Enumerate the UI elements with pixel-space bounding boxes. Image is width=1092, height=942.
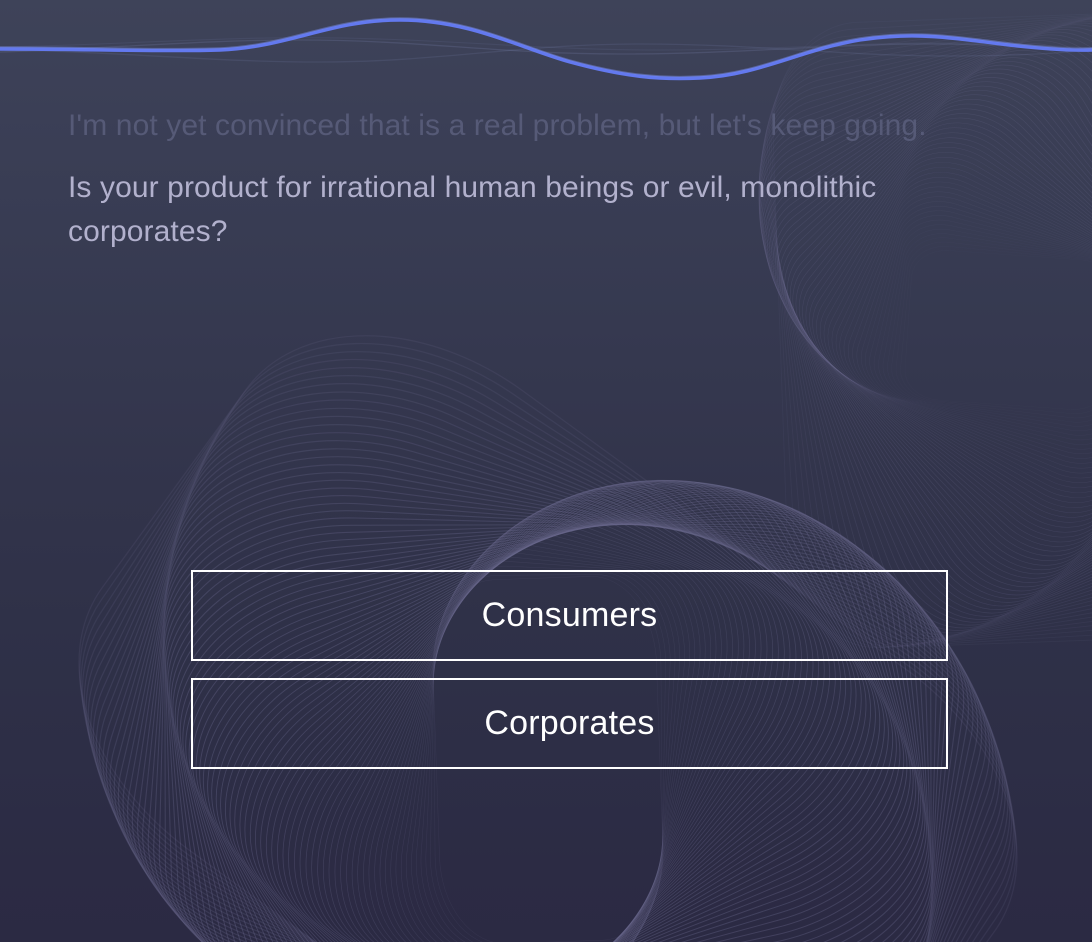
current-question: Is your product for irrational human bei… bbox=[68, 166, 908, 254]
chat-transcript: I'm not yet convinced that is a real pro… bbox=[68, 104, 1038, 254]
answer-options: Consumers Corporates bbox=[191, 570, 948, 769]
answer-button-corporates[interactable]: Corporates bbox=[191, 678, 948, 769]
app-root: I'm not yet convinced that is a real pro… bbox=[0, 0, 1092, 942]
previous-message: I'm not yet convinced that is a real pro… bbox=[68, 104, 1028, 148]
content-area: I'm not yet convinced that is a real pro… bbox=[0, 0, 1092, 942]
answer-button-consumers[interactable]: Consumers bbox=[191, 570, 948, 661]
